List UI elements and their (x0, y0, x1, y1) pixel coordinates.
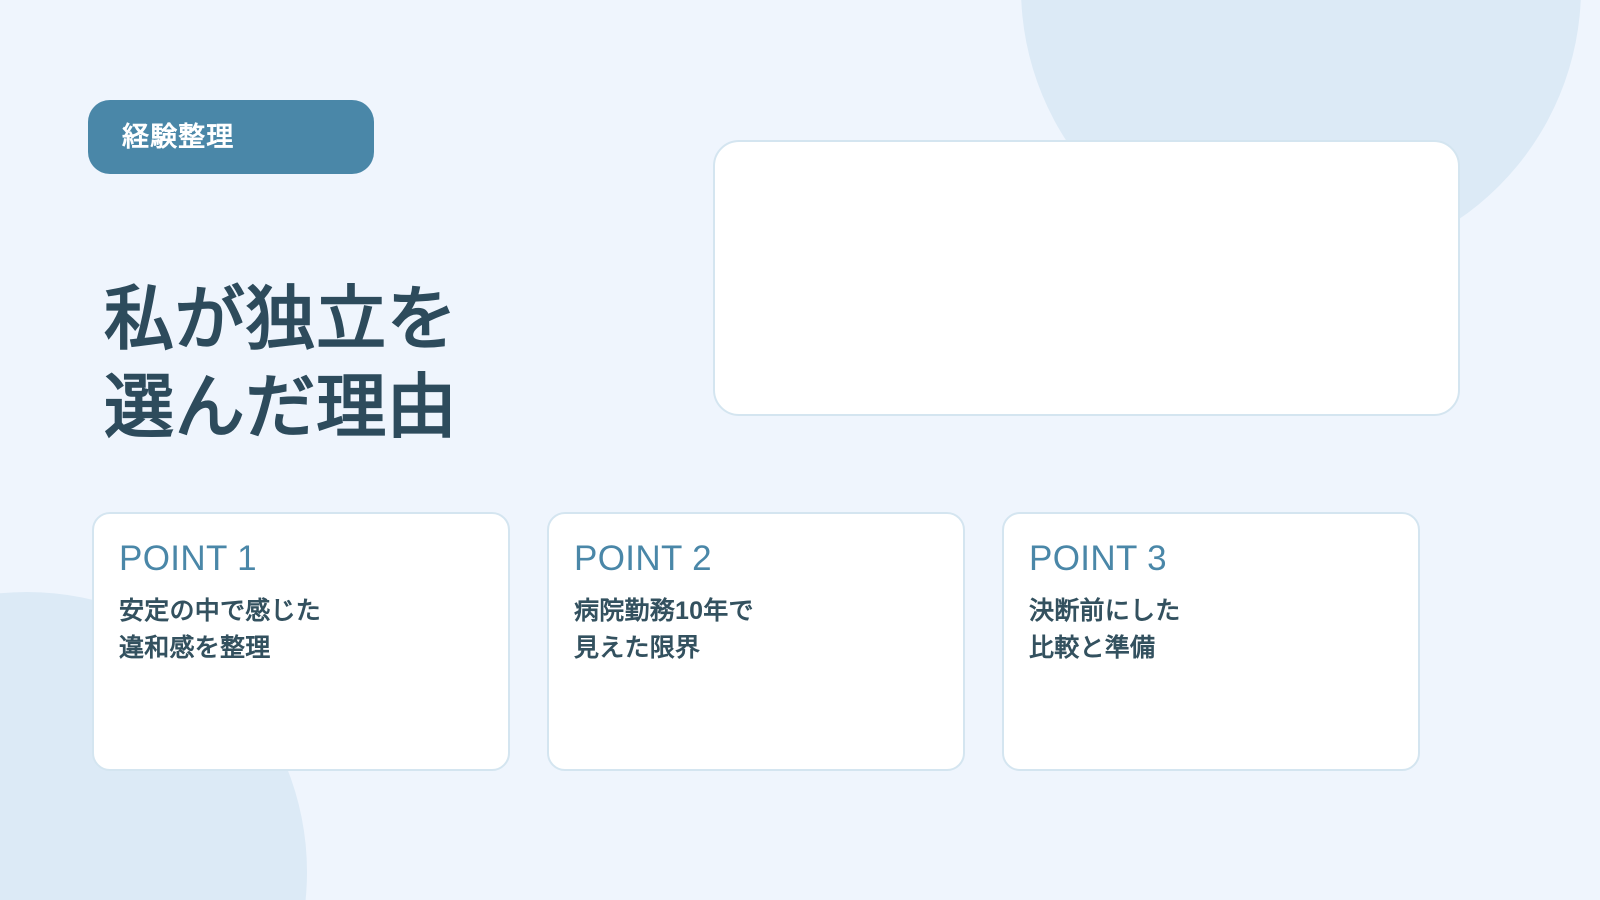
point-card-1-kicker: POINT 1 (119, 540, 482, 579)
point-card-3-kicker: POINT 3 (1029, 540, 1392, 579)
point-card-2-kicker: POINT 2 (574, 540, 937, 579)
slide-canvas: 経験整理 私が独立を 選んだ理由 POINT 1 安定の中で感じた 違和感を整理… (0, 0, 1600, 900)
point-card-list: POINT 1 安定の中で感じた 違和感を整理 POINT 2 病院勤務10年で… (92, 512, 1422, 771)
page-title: 私が独立を 選んだ理由 (104, 275, 664, 451)
section-badge: 経験整理 (88, 100, 374, 174)
point-card-1: POINT 1 安定の中で感じた 違和感を整理 (92, 512, 510, 771)
media-placeholder-box (713, 140, 1460, 416)
point-card-1-body: 安定の中で感じた 違和感を整理 (119, 593, 482, 668)
section-badge-label: 経験整理 (122, 124, 234, 151)
point-card-2-body: 病院勤務10年で 見えた限界 (574, 593, 937, 668)
point-card-3-body: 決断前にした 比較と準備 (1029, 593, 1392, 668)
point-card-2: POINT 2 病院勤務10年で 見えた限界 (547, 512, 965, 771)
point-card-3: POINT 3 決断前にした 比較と準備 (1002, 512, 1420, 771)
